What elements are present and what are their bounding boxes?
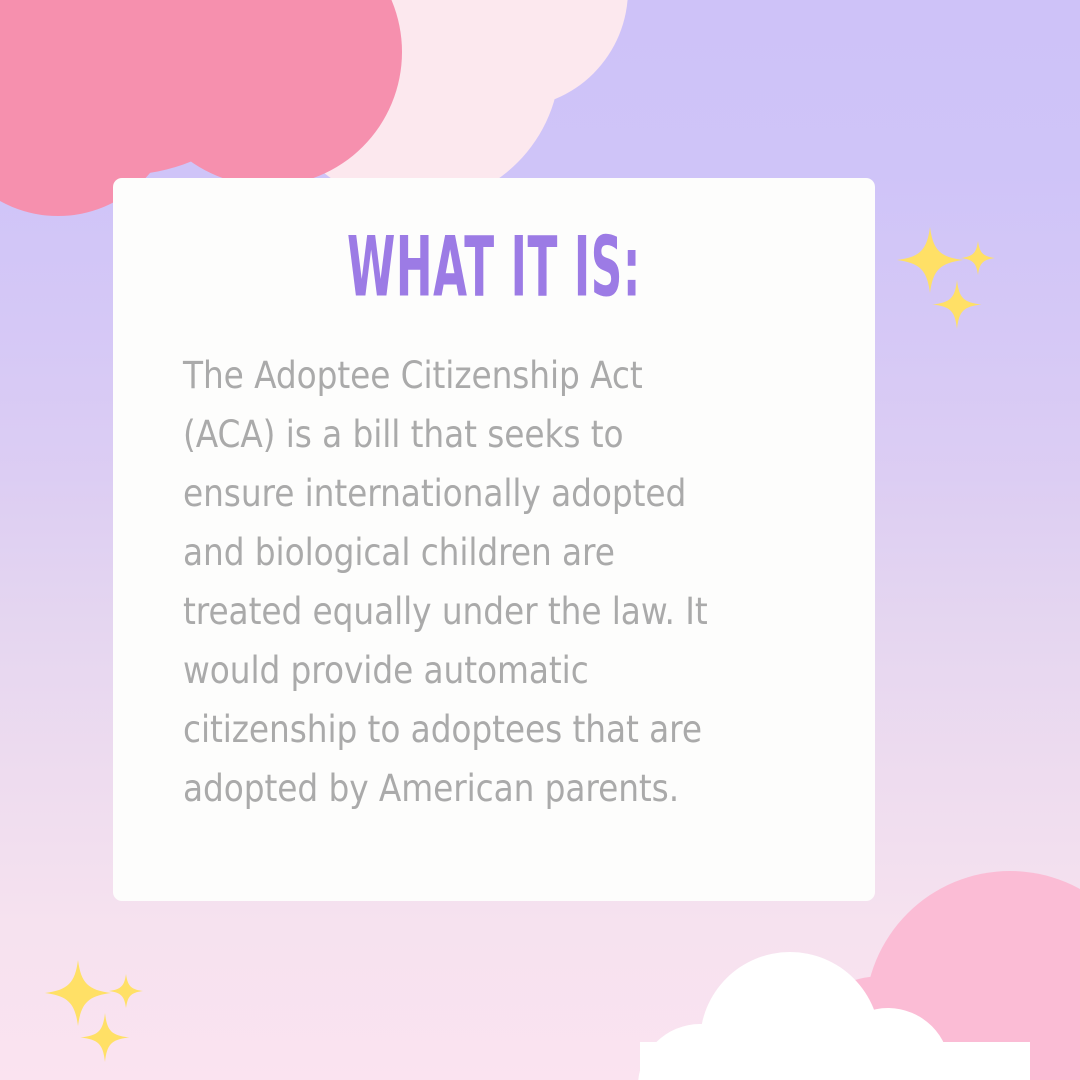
card-body-text: The Adoptee Citizenship Act (ACA) is a b…: [183, 346, 730, 818]
sparkle-small-icon: [109, 974, 143, 1008]
sparkle-medium-icon: [81, 1013, 130, 1062]
info-card: WHAT IT IS: The Adoptee Citizenship Act …: [113, 178, 875, 901]
cloud-bottom-right-pink-icon: [790, 871, 1080, 1080]
sparkles-top-right: [892, 222, 1002, 332]
cloud-top-left-pale-pink-icon: [160, 0, 628, 205]
sparkle-large-icon: [45, 960, 111, 1026]
poster-canvas: WHAT IT IS: The Adoptee Citizenship Act …: [0, 0, 1080, 1080]
sparkle-large-icon: [897, 227, 963, 293]
cloud-bottom-center-white-icon: [638, 952, 1030, 1080]
sparkles-bottom-left: [40, 955, 150, 1065]
card-title: WHAT IT IS:: [265, 226, 722, 309]
sparkle-medium-icon: [933, 280, 982, 329]
sparkle-small-icon: [961, 241, 995, 275]
